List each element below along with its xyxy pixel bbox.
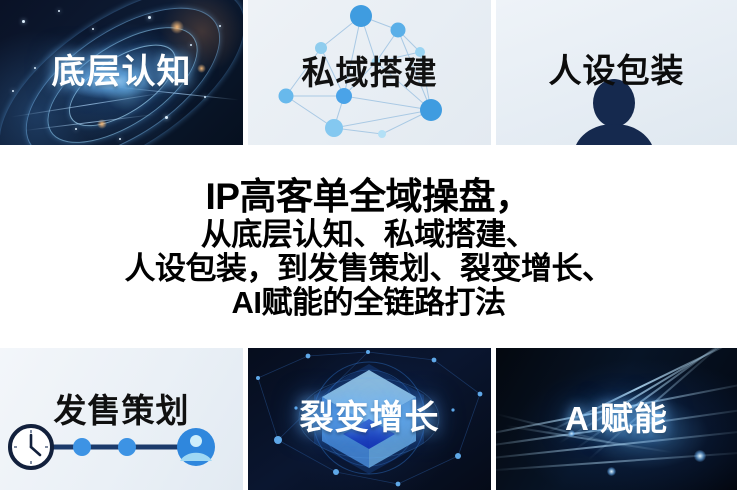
poster-root: 底层认知 [0, 0, 737, 490]
panel-裂变增长[interactable]: 裂变增长 [248, 348, 491, 490]
headline-line-3: 人设包装，到发售策划、裂变增长、 [125, 253, 613, 284]
panel-私域搭建[interactable]: 私域搭建 [248, 0, 491, 145]
panel-label-私域搭建: 私域搭建 [248, 46, 491, 94]
bottom-panel-row: 发售策划 [0, 348, 737, 490]
panel-发售策划[interactable]: 发售策划 [0, 348, 243, 490]
panel-AI赋能[interactable]: AI赋能 [496, 348, 737, 490]
top-panel-row: 底层认知 [0, 0, 737, 145]
headline-line-1: IP高客单全域操盘， [206, 178, 532, 215]
panel-label-AI赋能: AI赋能 [496, 392, 737, 440]
headline-line-4: AI赋能的全链路打法 [232, 287, 506, 318]
panel-人设包装[interactable]: 人设包装 [496, 0, 737, 145]
headline-line-2: 从底层认知、私域搭建、 [201, 219, 537, 250]
panel-label-裂变增长: 裂变增长 [248, 390, 491, 439]
panel-label-底层认知: 底层认知 [0, 44, 243, 93]
headline-block: IP高客单全域操盘， 从底层认知、私域搭建、 人设包装，到发售策划、裂变增长、 … [0, 145, 737, 348]
panel-label-发售策划: 发售策划 [0, 384, 243, 432]
panel-底层认知[interactable]: 底层认知 [0, 0, 243, 145]
panel-label-人设包装: 人设包装 [496, 44, 737, 92]
